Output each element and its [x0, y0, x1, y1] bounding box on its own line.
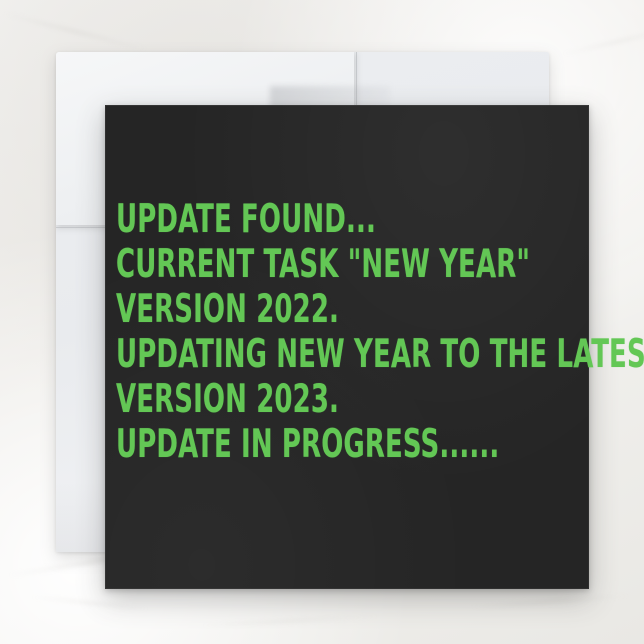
card-message-line-1: UPDATE FOUND...: [116, 197, 462, 242]
card-message-line-3: VERSION 2022.: [116, 287, 462, 332]
marble-vein: [200, 615, 380, 626]
marble-vein: [30, 596, 150, 611]
card-message: UPDATE FOUND... CURRENT TASK "NEW YEAR" …: [116, 197, 583, 467]
marble-vein: [561, 27, 644, 56]
marble-vein: [2, 12, 148, 51]
greeting-card: UPDATE FOUND... CURRENT TASK "NEW YEAR" …: [105, 105, 589, 589]
scene-stage: UPDATE FOUND... CURRENT TASK "NEW YEAR" …: [0, 0, 644, 644]
card-message-line-5: VERSION 2023.: [116, 377, 462, 422]
card-message-line-6: UPDATE IN PROGRESS......: [116, 422, 462, 467]
marble-vein: [470, 594, 630, 608]
card-message-line-4: UPDATING NEW YEAR TO THE LATEST: [116, 332, 462, 377]
card-message-line-2: CURRENT TASK "NEW YEAR": [116, 242, 462, 287]
